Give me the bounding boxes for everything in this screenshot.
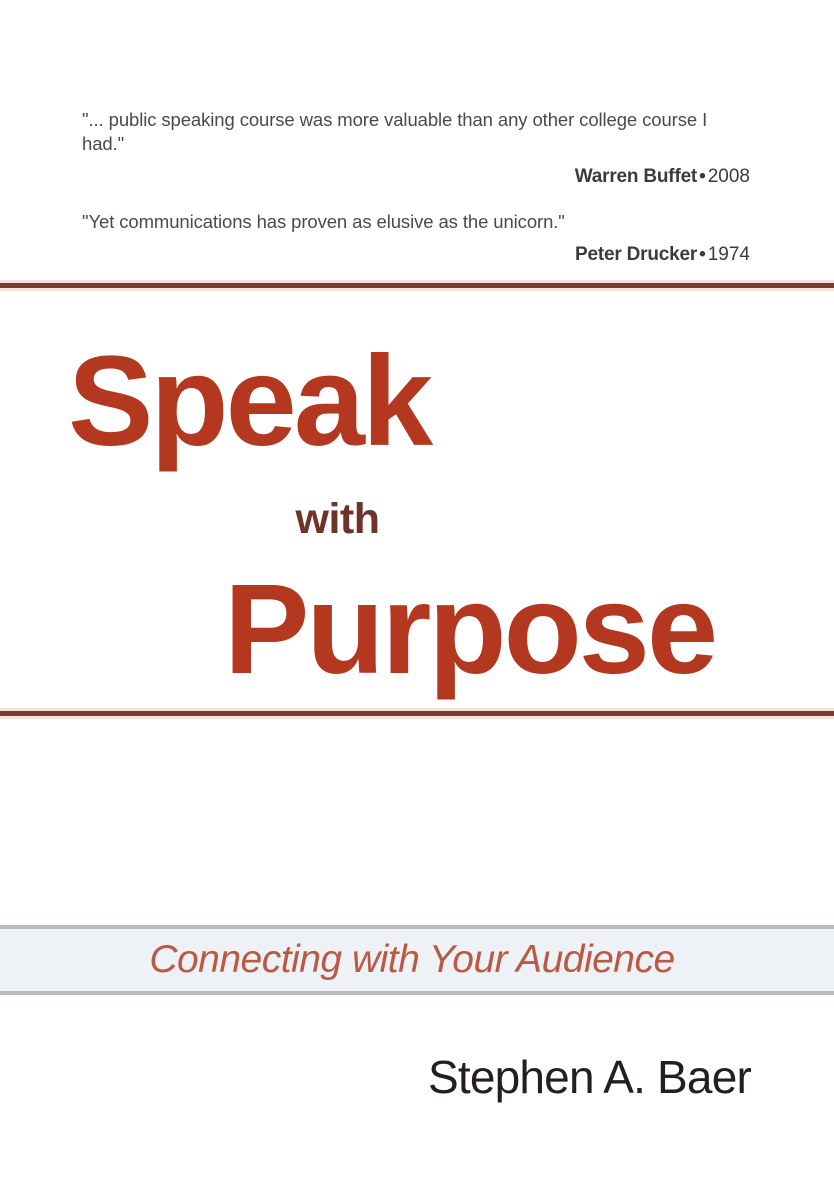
quote-attribution-year: 2008 (708, 166, 750, 187)
bullet-separator-icon: • (697, 244, 708, 265)
author-name: Stephen A. Baer (428, 1050, 751, 1104)
subtitle-band: Connecting with Your Audience (0, 925, 834, 995)
quote-attribution: Peter Drucker•1974 (82, 244, 750, 266)
quote-block: "... public speaking course was more val… (82, 108, 750, 188)
bullet-separator-icon: • (697, 166, 708, 187)
title-line-purpose: Purpose (224, 566, 715, 694)
quote-attribution: Warren Buffet•2008 (82, 166, 750, 188)
quote-block: "Yet communications has proven as elusiv… (82, 210, 750, 266)
divider-rule-bottom (0, 711, 834, 716)
quote-text: "Yet communications has proven as elusiv… (82, 210, 750, 234)
quote-attribution-name: Peter Drucker (575, 244, 697, 265)
book-title: Speak with Purpose (0, 330, 834, 690)
book-cover: "... public speaking course was more val… (0, 0, 834, 1200)
endorsement-quotes: "... public speaking course was more val… (82, 108, 750, 288)
quote-attribution-year: 1974 (708, 244, 750, 265)
quote-attribution-name: Warren Buffet (575, 166, 697, 187)
book-subtitle: Connecting with Your Audience (149, 938, 674, 982)
quote-text: "... public speaking course was more val… (82, 108, 750, 156)
title-line-with: with (0, 498, 675, 541)
title-line-speak: Speak (68, 338, 430, 466)
divider-rule-top (0, 283, 834, 288)
